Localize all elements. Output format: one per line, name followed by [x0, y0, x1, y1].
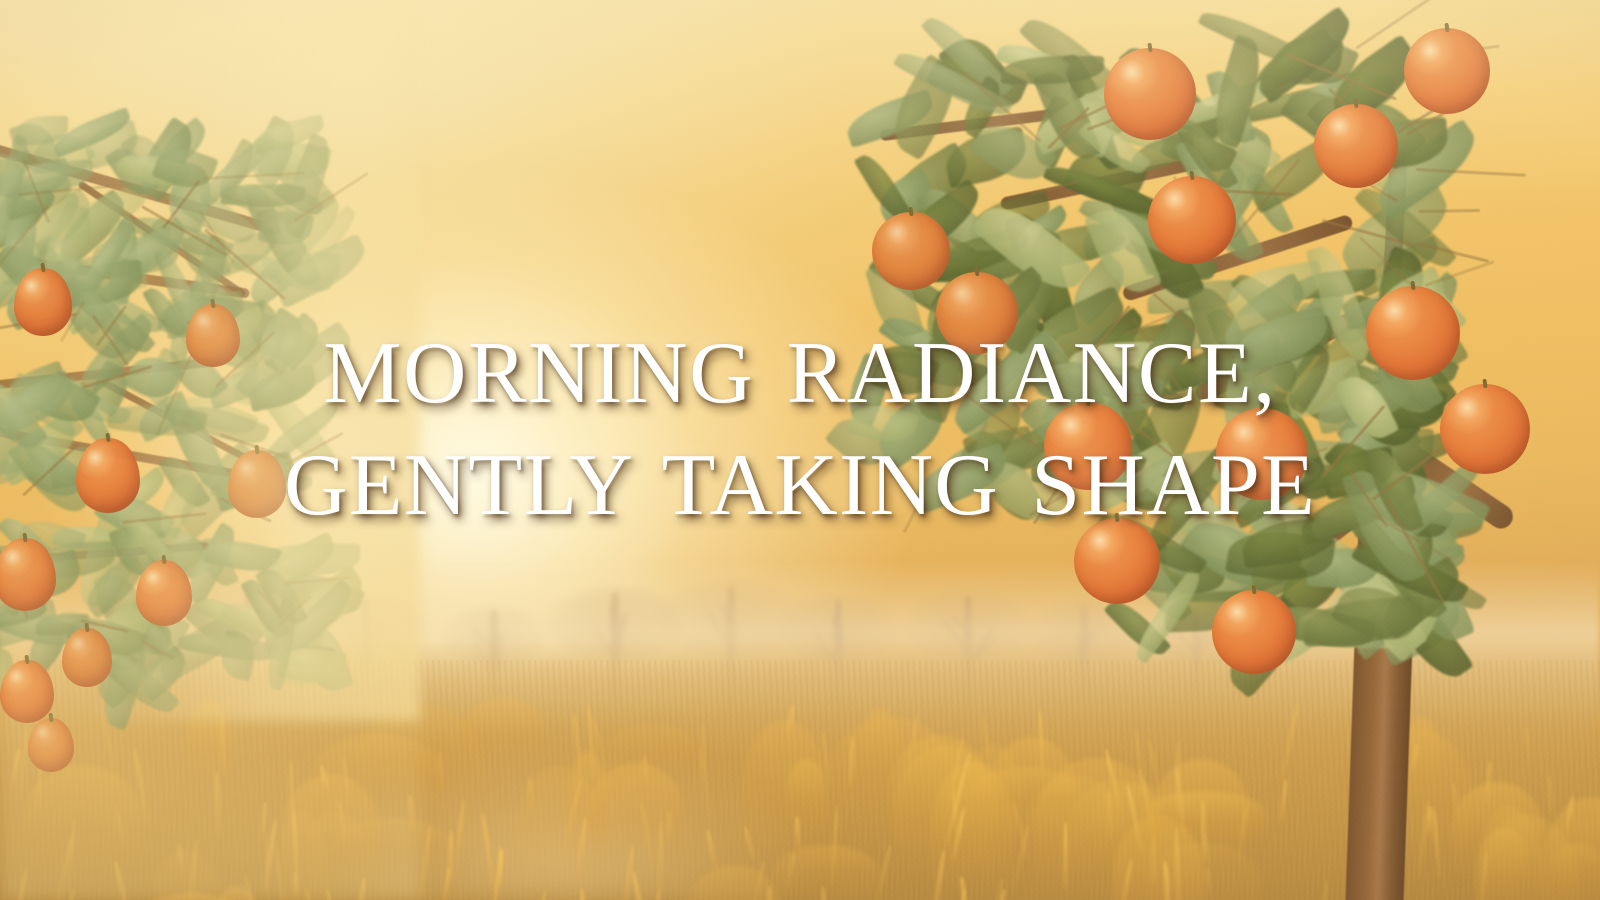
leaf [1224, 260, 1326, 318]
twig [1195, 188, 1293, 196]
orange-fruit [136, 560, 192, 626]
twig [294, 172, 369, 222]
distant-tree-trunk [611, 592, 620, 712]
distant-tree-crown [900, 589, 1035, 660]
wheat-stalk [930, 849, 946, 900]
leaf [129, 116, 204, 202]
leaf [95, 627, 156, 730]
wheat-stalk [1104, 748, 1124, 812]
twig [1406, 94, 1476, 136]
leaf [1306, 546, 1380, 590]
leaf [1306, 109, 1409, 205]
leaf [1176, 163, 1255, 252]
distant-tree-trunk [834, 600, 843, 710]
leaf [83, 597, 160, 666]
leaf [281, 641, 336, 672]
distant-tree-trunk [727, 586, 736, 712]
leaf [85, 632, 181, 722]
leaf [131, 208, 234, 268]
leaf [920, 9, 1013, 104]
leaf [0, 259, 69, 313]
tree-branch-right [879, 106, 1079, 141]
wheat-stalk [1379, 829, 1390, 870]
twig [1233, 158, 1301, 238]
leaf [1368, 532, 1439, 621]
grass-tuft [313, 733, 443, 815]
distant-tree-crown [439, 604, 548, 666]
wheat-stalk [1409, 743, 1420, 776]
wheat-stalk [959, 876, 968, 900]
leaf [888, 178, 989, 265]
distant-tree-branch [618, 613, 627, 638]
twig [0, 204, 49, 282]
distant-tree-crown [654, 578, 807, 656]
distant-tree-branch [360, 626, 372, 649]
wheat-stalk [407, 794, 415, 832]
twig [78, 631, 108, 666]
leaf [278, 564, 365, 624]
grass-tuft [281, 774, 380, 889]
twig [141, 205, 227, 257]
leaf [151, 140, 218, 196]
orange-fruit [1404, 28, 1490, 114]
leaf [1025, 94, 1083, 169]
twig [1086, 98, 1170, 131]
distant-tree-branch [1080, 626, 1103, 649]
wheat-stalk [1426, 806, 1432, 835]
fruit-stem [1147, 43, 1152, 52]
leaf [1215, 593, 1315, 699]
twig [162, 180, 201, 230]
distant-tree-branch [943, 621, 964, 648]
wheat-stalk [219, 712, 226, 777]
leaf [963, 189, 1055, 249]
wheat-stalk [1202, 833, 1211, 868]
wheat-stalk [1279, 702, 1300, 783]
fruit-stem [908, 207, 913, 216]
distant-tree-branch [1080, 630, 1093, 664]
distant-tree [1156, 612, 1236, 708]
grass-tuft [1482, 828, 1529, 890]
twig [278, 595, 311, 627]
leaf [1290, 31, 1359, 94]
leaf [0, 244, 35, 317]
meadow-grass-texture [0, 660, 1600, 900]
leaf [1054, 91, 1127, 140]
distant-tree-crown [544, 585, 687, 659]
leaf [1320, 603, 1430, 652]
leaf [76, 629, 138, 678]
leaf [250, 189, 350, 280]
leaf [1061, 50, 1121, 173]
distant-tree-branch [720, 603, 734, 625]
fruit-stem [24, 655, 29, 664]
grass-tuft [276, 812, 329, 900]
wheat-stalk [944, 735, 966, 820]
leaf [14, 190, 87, 268]
wheat-stalk [263, 818, 278, 890]
grass-tuft [603, 725, 697, 777]
wheat-stalk [575, 816, 588, 880]
twig [1417, 242, 1490, 263]
leaf [114, 217, 180, 283]
wheat-stalk [54, 836, 74, 900]
grass-tuft [461, 698, 545, 760]
fruit-stem [48, 713, 53, 722]
wheat-stalk [112, 803, 127, 853]
distant-tree-branch [619, 618, 625, 655]
leaf [1011, 204, 1073, 254]
wheat-stalk [1162, 860, 1172, 900]
wheat-stalk [904, 710, 921, 778]
wheat-stalk [340, 755, 352, 806]
distant-tree-branch [1077, 634, 1082, 665]
leaf [1347, 102, 1426, 165]
wheat-stalk [1395, 747, 1400, 823]
leaf [59, 260, 144, 308]
leaf [1190, 180, 1266, 270]
distant-tree-branch [472, 640, 491, 672]
leaf [278, 247, 342, 290]
wheat-stalk [292, 871, 298, 899]
grass-tuft [859, 708, 901, 789]
distant-tree-crown [170, 578, 326, 656]
distant-tree-trunk [362, 600, 371, 712]
wheat-stalk [132, 748, 151, 830]
distant-tree-branch [248, 608, 258, 650]
leaf [76, 252, 140, 281]
wheat-stalk [1564, 795, 1575, 834]
leaf [242, 115, 304, 191]
leaf [1062, 140, 1149, 214]
fruit-stem [84, 623, 89, 632]
tree-branch-left [77, 180, 247, 298]
artwork-canvas: MORNING RADIANCE, GENTLY TAKING SHAPE [0, 0, 1600, 900]
wheat-stalk [700, 722, 707, 784]
wheat-stalk [1416, 800, 1430, 877]
leaf [880, 53, 968, 160]
twig [1425, 260, 1495, 287]
wheat-stalk [1547, 775, 1555, 818]
wheat-stalk [288, 760, 294, 828]
distant-tree-branch [595, 631, 620, 662]
leaf [1198, 3, 1321, 78]
leaf [255, 562, 308, 630]
wheat-stalk [304, 888, 321, 900]
orange-fruit [872, 212, 950, 290]
leaf [50, 189, 135, 268]
leaf [0, 252, 43, 288]
leaf [115, 147, 190, 194]
wheat-stalk [1316, 879, 1330, 900]
wheat-stalk [1136, 767, 1157, 841]
fruit-stem [1251, 585, 1256, 594]
twig [0, 536, 29, 619]
wheat-stalk [639, 800, 657, 874]
distant-tree-crown [304, 593, 429, 662]
distant-tree-branch [727, 621, 739, 665]
leaf [0, 565, 21, 628]
leaf [1160, 105, 1231, 152]
leaf [1027, 72, 1152, 156]
fruit-stem [1189, 171, 1194, 180]
leaf [120, 127, 173, 184]
grass-tuft [989, 737, 1074, 838]
leaf [1100, 531, 1229, 607]
twig [1285, 53, 1396, 100]
leaf [1279, 77, 1374, 162]
grass-tuft [1145, 842, 1261, 900]
distant-tree [188, 586, 308, 712]
wheat-stalk [357, 877, 368, 900]
leaf [842, 89, 938, 148]
leaf [177, 627, 280, 668]
leaf [255, 128, 338, 220]
fruit-stem [1353, 99, 1358, 108]
leaf [50, 107, 135, 158]
leaf [1369, 556, 1445, 646]
distant-tree-branch [247, 625, 279, 658]
leaf [1231, 616, 1323, 672]
wheat-stalk [438, 751, 444, 791]
wheat-stalk [186, 838, 200, 900]
leaf [1381, 580, 1474, 689]
wheat-stalk [64, 888, 76, 900]
distant-tree-branch [1194, 638, 1202, 656]
distant-tree-branch [1178, 633, 1197, 657]
leaf [1371, 537, 1487, 620]
leaf [1373, 555, 1470, 639]
distant-tree [452, 610, 536, 710]
wheat-stalk [265, 833, 271, 900]
twig [18, 185, 109, 196]
wheat-stalk [1278, 779, 1288, 824]
leaf [1245, 168, 1294, 238]
grass-tuft [828, 717, 956, 838]
leaf [1131, 212, 1208, 276]
leaf [941, 126, 1031, 189]
wheat-stalk [1394, 788, 1408, 835]
leaf [0, 173, 31, 223]
leaf [1174, 136, 1250, 258]
leaf [1202, 107, 1283, 178]
leaf [1369, 556, 1427, 615]
twig [1416, 168, 1526, 177]
orange-fruit [1314, 104, 1398, 188]
wheat-stalk [571, 712, 583, 781]
distant-tree-branch [970, 627, 994, 660]
distant-tree-trunk [244, 586, 253, 712]
grass-tuft [568, 751, 608, 856]
leaf [893, 43, 1013, 124]
twig [1322, 219, 1415, 246]
leaf [1374, 591, 1470, 667]
distant-tree-trunk [964, 596, 973, 710]
leaf [34, 199, 104, 287]
distant-tree-branch [707, 611, 727, 642]
fruit-stem [1444, 23, 1449, 32]
grass-tuft [893, 745, 997, 877]
leaf [134, 645, 194, 702]
leaf [1033, 65, 1103, 167]
leaf [1024, 43, 1132, 153]
leaf [1330, 574, 1424, 654]
headline-line-2: GENTLY TAKING SHAPE [0, 430, 1600, 542]
orange-fruit [0, 660, 54, 723]
leaf [970, 191, 1092, 304]
leaf [0, 149, 37, 194]
leaf [242, 247, 311, 308]
leaf [1062, 252, 1135, 326]
wheat-stalk [951, 807, 967, 862]
distant-tree [672, 586, 790, 712]
leaf [1348, 560, 1453, 661]
leaf [165, 173, 258, 254]
twig [204, 172, 305, 180]
fruit-stem [40, 263, 45, 272]
leaf [1128, 568, 1208, 664]
leaf [107, 219, 149, 292]
twig [141, 640, 174, 660]
leaf [151, 610, 249, 684]
leaf [219, 593, 324, 659]
leaf [0, 204, 40, 235]
orange-fruit [0, 538, 56, 611]
distant-tree-branch [473, 627, 491, 647]
wheat-stalk [980, 716, 994, 777]
leaf [86, 615, 185, 710]
leaf [220, 181, 305, 210]
distant-tree [1040, 606, 1128, 708]
distant-tree-crown [1144, 606, 1248, 666]
distant-tree-branch [724, 614, 731, 654]
grass-tuft [1067, 780, 1169, 884]
leaf [1013, 219, 1131, 272]
distant-tree [318, 600, 414, 712]
wheat-stalk [1151, 836, 1156, 886]
leaf [244, 183, 282, 241]
twig [1359, 236, 1421, 294]
orange-fruit [28, 718, 74, 772]
wheat-stalk [272, 842, 287, 900]
wheat-stalk [829, 805, 839, 886]
twig [1320, 76, 1362, 123]
wheat-stalk [497, 847, 503, 886]
leaf [49, 603, 106, 653]
leaf [1066, 93, 1122, 159]
grass-tuft [1112, 815, 1205, 900]
leaf [1345, 544, 1467, 593]
wheat-stalk [480, 812, 497, 893]
leaf [256, 607, 307, 666]
leaf [1302, 596, 1426, 647]
leaf [273, 176, 325, 222]
wheat-stalk [658, 821, 664, 900]
twig [1355, 0, 1450, 50]
wheat-stalk [591, 716, 611, 779]
distant-tree-branch [241, 628, 265, 652]
grass-tuft [688, 865, 781, 900]
distant-tree-branch [815, 634, 834, 661]
leaf [81, 119, 143, 169]
leaf [160, 160, 219, 235]
leaf [34, 228, 86, 285]
wheat-stalk [820, 730, 834, 791]
wheat-stalk [1450, 782, 1460, 821]
wheat-stalk [176, 842, 184, 875]
distant-tree-branch [610, 606, 617, 646]
leaf [1317, 108, 1384, 180]
tree-trunk-right [1345, 519, 1417, 900]
leaf [1375, 544, 1448, 627]
leaf [104, 140, 160, 203]
wheat-stalk [34, 750, 45, 814]
leaf [0, 600, 48, 631]
leaf [132, 614, 182, 667]
twig [1173, 176, 1201, 225]
grass-tuft [1141, 791, 1266, 840]
leaf [1164, 591, 1249, 633]
leaf [151, 117, 214, 177]
leaf [66, 609, 148, 665]
leaf [1314, 530, 1442, 638]
leaf [1001, 56, 1104, 84]
leaf [1363, 575, 1428, 655]
grass-tuft [357, 704, 485, 821]
leaf [1354, 178, 1458, 278]
twig [1397, 84, 1475, 134]
leaf [192, 227, 282, 285]
wheat-stalk [442, 866, 453, 900]
tree-branch-left [0, 251, 250, 298]
wheat-stalk [1200, 798, 1206, 860]
wheat-stalk [1125, 783, 1144, 852]
wheat-stalk [1379, 767, 1391, 829]
orange-fruit [1104, 48, 1196, 140]
leaf [193, 131, 282, 209]
grass-tuft [1474, 815, 1580, 900]
grass-tuft [187, 699, 232, 785]
distant-tree-branch [1083, 623, 1088, 647]
wheat-stalk [112, 860, 132, 900]
twig [1047, 106, 1090, 149]
wheat-stalk [1011, 799, 1031, 862]
wheat-stalk [259, 800, 269, 842]
leaf [1355, 600, 1415, 656]
leaf [92, 232, 180, 277]
grass-tuft [307, 813, 364, 868]
leaf [0, 188, 41, 250]
wheat-stalk [17, 721, 31, 804]
leaf [103, 220, 144, 304]
leaf [1146, 185, 1199, 254]
leaf [265, 579, 339, 689]
leaf [1351, 562, 1425, 605]
wheat-stalk [10, 869, 28, 900]
distant-tree-trunk [490, 610, 499, 710]
wheat-stalk [559, 777, 583, 860]
twig [1355, 175, 1398, 202]
leaf [261, 598, 303, 690]
distant-tree [790, 600, 886, 710]
leaf [258, 207, 315, 249]
distant-tree-branch [831, 619, 837, 642]
leaf [1128, 130, 1199, 174]
wheat-stalk [579, 888, 587, 900]
wheat-stalk [10, 748, 22, 789]
grass-tuft [1363, 728, 1471, 864]
wheat-stalk [490, 848, 505, 900]
